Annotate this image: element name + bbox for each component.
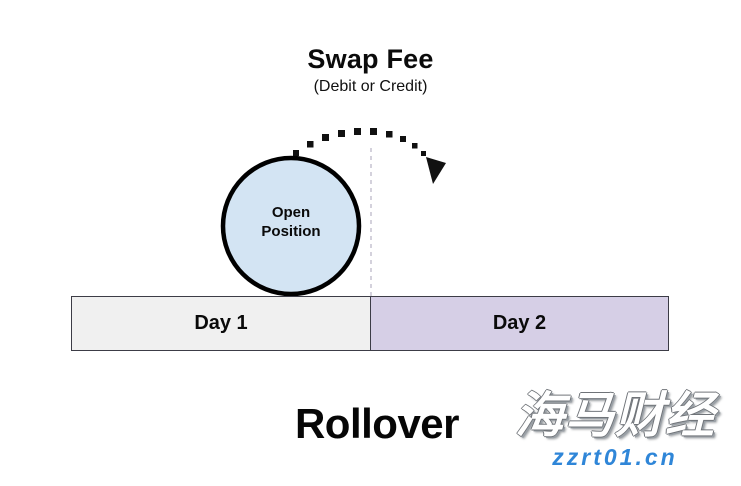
watermark: 海马财经 zzrt01.cn bbox=[495, 388, 735, 470]
rollover-caption: Rollover bbox=[222, 400, 532, 448]
timeline-segment-day-2: Day 2 bbox=[371, 297, 668, 350]
timeline-bars: Day 1 Day 2 bbox=[71, 296, 669, 351]
rollover-arrow-head-icon bbox=[426, 157, 446, 184]
timeline-segment-day-1: Day 1 bbox=[72, 297, 371, 350]
watermark-brand-url: zzrt01.cn bbox=[495, 444, 735, 470]
open-position-label-line1: Open bbox=[222, 203, 360, 222]
watermark-brand-cn: 海马财经 bbox=[495, 388, 735, 444]
rollover-arc-dots bbox=[293, 128, 426, 156]
open-position-label: Open Position bbox=[222, 203, 360, 241]
open-position-label-line2: Position bbox=[222, 222, 360, 241]
diagram-canvas: Swap Fee (Debit or Credit) Open Position… bbox=[0, 0, 741, 486]
